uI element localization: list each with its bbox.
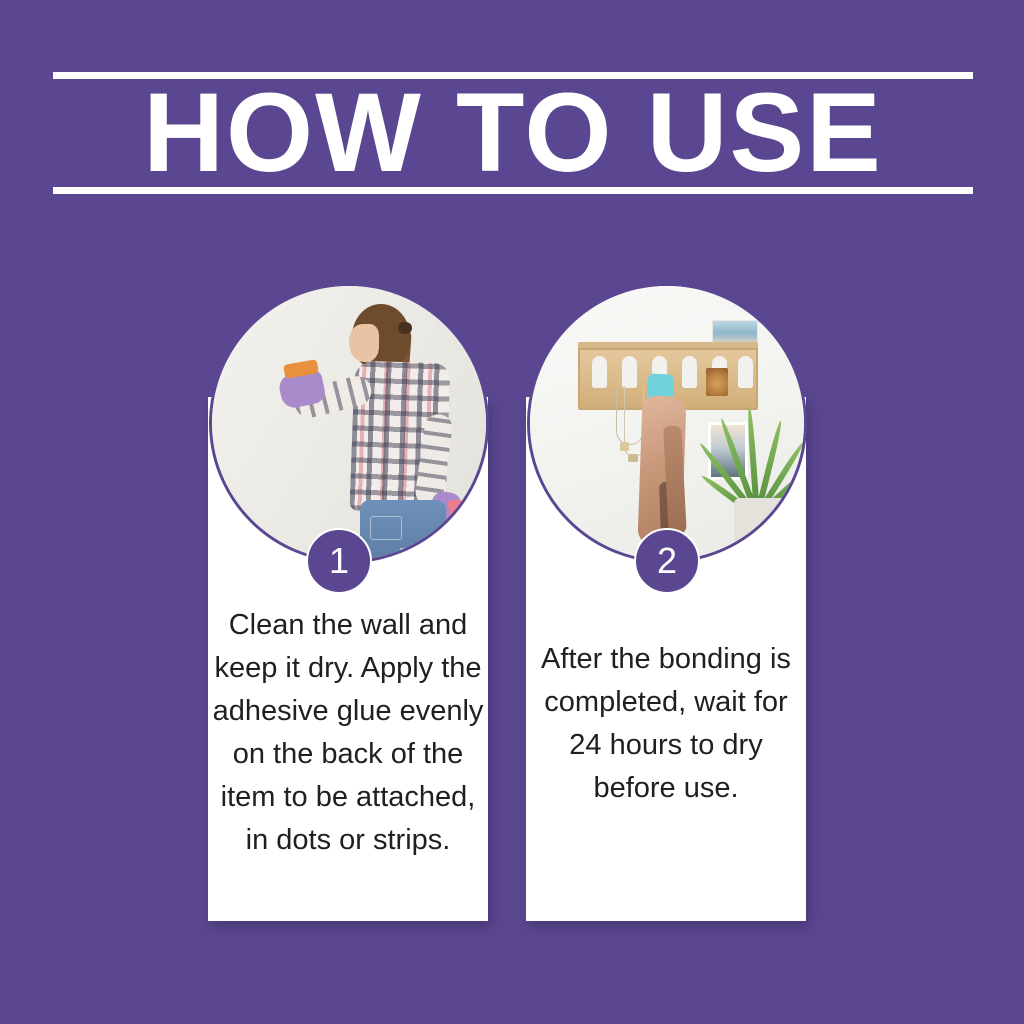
step-2-description: After the bonding is completed, wait for… — [530, 638, 802, 810]
necklace-charm — [628, 454, 638, 462]
necklace-charm — [620, 442, 629, 451]
jeans-leg-gap — [400, 548, 406, 560]
woman-cleaning-wall-illustration — [212, 286, 486, 560]
step-2-photo — [527, 283, 807, 563]
step-1-photo — [209, 283, 489, 563]
rack-peg — [738, 356, 753, 388]
jeans-pocket — [370, 516, 402, 540]
rack-peg — [622, 356, 637, 388]
hair-band — [398, 322, 412, 334]
rack-peg — [682, 356, 697, 388]
step-badge-1: 1 — [306, 528, 372, 594]
step-badge-2: 2 — [634, 528, 700, 594]
plant-pot — [734, 498, 788, 546]
small-photo-on-rack — [706, 368, 728, 396]
face — [349, 324, 379, 362]
postcard-on-shelf — [712, 320, 758, 344]
coat-rack-illustration — [530, 286, 804, 560]
steps-container: 1 Clean the wall and keep it dry. Apply … — [0, 0, 1024, 1024]
rack-peg — [592, 356, 607, 388]
step-1-description: Clean the wall and keep it dry. Apply th… — [212, 604, 484, 862]
cleaning-bucket — [441, 524, 486, 560]
how-to-use-poster: HOW TO USE — [0, 0, 1024, 1024]
